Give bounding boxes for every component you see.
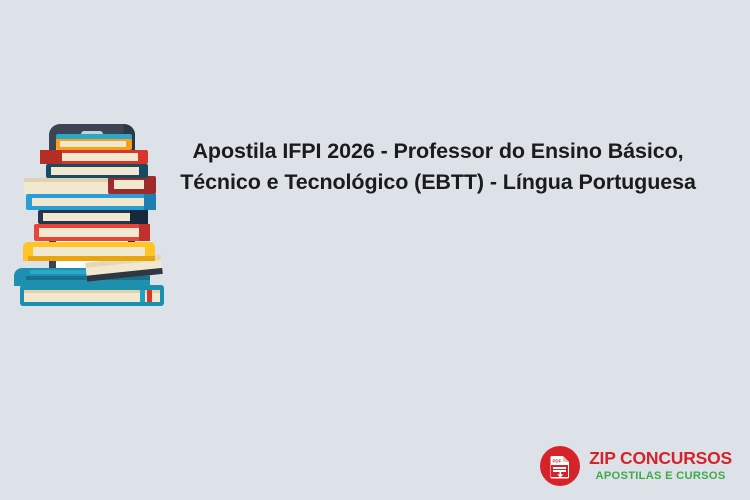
logo-brand-name: ZIP CONCURSOS [589, 450, 732, 468]
title-block: Apostila IFPI 2026 - Professor do Ensino… [168, 136, 708, 198]
books-illustration [12, 118, 172, 313]
svg-text:PDF: PDF [553, 459, 562, 464]
logo-text: ZIP CONCURSOS APOSTILAS E CURSOS [589, 450, 732, 482]
logo-tagline: APOSTILAS E CURSOS [589, 471, 732, 482]
page-title: Apostila IFPI 2026 - Professor do Ensino… [168, 136, 708, 198]
pdf-download-icon: PDF [540, 446, 580, 486]
book-stack [14, 134, 164, 306]
product-banner: Apostila IFPI 2026 - Professor do Ensino… [0, 0, 750, 500]
brand-logo[interactable]: PDF ZIP CONCURSOS APOSTILAS E CURSOS [540, 446, 732, 486]
